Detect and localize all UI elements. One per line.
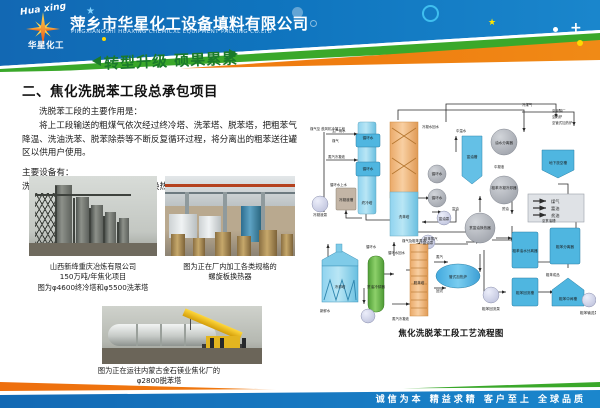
bubble-decor-4	[553, 27, 558, 32]
footer-slogan: 诚信为本 精益求精 客户至上 全球品质	[376, 392, 586, 405]
bubble-decor-5	[577, 40, 583, 46]
label-rich-oil-pump-1: 富油泵	[439, 216, 450, 221]
company-name-en: PINGXIANGSHI HUAXING CHEMICXL EQUIPMENT …	[71, 29, 272, 35]
node-reflux-pump	[483, 287, 499, 303]
caption2-line2: 螺旋板换热器	[160, 272, 300, 282]
label-blowdown-tank: 地下放空槽	[549, 160, 567, 165]
label-circ-water-4: 循环水	[432, 195, 443, 200]
label-benzene-intermediate: 粗苯中间槽	[559, 296, 577, 301]
node-debenzolizing-tower	[410, 244, 428, 316]
header-slogan-wrap: 转型升级 硕果累累	[0, 48, 600, 74]
stream-19: 蒸汽冷凝液	[392, 316, 410, 321]
body-paragraph: 将上工段输送的粗煤气依次经过终冷塔、洗苯塔、脱苯塔，把粗苯气降温、洗油洗苯、脱苯…	[22, 120, 304, 160]
caption2-line1: 图为正在厂内加工各类规格的	[160, 262, 300, 272]
stream-8: 贫油	[502, 206, 509, 211]
workshop-photo	[165, 176, 295, 256]
label-debenzolizing-tower: 脱苯塔	[414, 280, 425, 285]
slogan-right-arrow-icon	[229, 49, 238, 59]
node-benzene-transfer-pump	[582, 293, 596, 307]
stream-3: 蒸汽冷凝液	[328, 154, 346, 159]
legend-label-1: 富油	[551, 205, 559, 212]
bubble-decor-3	[422, 5, 439, 22]
node-crude-benzene-condenser	[490, 176, 518, 204]
stream-1: 生产用水	[332, 128, 346, 133]
dest-methanol: 至甲醇厂	[552, 108, 566, 113]
stream-5: 冷凝水回水	[422, 124, 440, 129]
stream-cold-gas: 冷煤气	[522, 102, 533, 107]
legend-label-0: 煤气	[551, 198, 560, 205]
node-rich-oil-tank	[462, 136, 482, 184]
page-header: + ★ Hua xing 华星化工 ★ 萍乡市华星化工设备填料有限公司 PING…	[0, 0, 600, 74]
label-final-cooler: 终冷塔	[362, 200, 373, 205]
plus-decor-icon: +	[570, 21, 582, 35]
label-oil-water-separator: 油水分离器	[495, 140, 513, 145]
caption1-line3: 图为φ4600终冷塔和φ5500洗苯塔	[25, 283, 161, 293]
label-circ-water-3: 循环水	[432, 171, 443, 176]
stream-6: 中温水	[456, 128, 467, 133]
lead-text: 洗脱苯工段的主要作用是：	[22, 106, 304, 119]
diagram-caption: 焦化洗脱苯工段工艺流程图	[306, 327, 596, 339]
company-dot-decor	[102, 37, 106, 41]
stream-4: 循环水上水	[330, 182, 348, 187]
slogan-left-arrow-icon	[92, 56, 101, 66]
label-condensate-tank: 冷凝液槽	[339, 197, 354, 202]
company-logo: Hua xing 华星化工	[14, 4, 74, 50]
label-circ-water-2: 循环水	[363, 166, 374, 171]
label-reflux-pump: 粗苯回流泵	[482, 306, 500, 311]
label-circ-water-1: 循环水	[363, 135, 374, 140]
body-text: 洗脱苯工段的主要作用是： 将上工段输送的粗煤气依次经过终冷塔、洗苯塔、脱苯塔，把…	[22, 106, 304, 160]
yellow-star-icon: ★	[488, 18, 496, 28]
caption3-line1: 图为正在运往内蒙古金石镁业焦化厂的	[64, 366, 254, 376]
label-benzene-separator: 粗苯分离器	[556, 244, 574, 249]
label-wash-tower: 洗苯塔	[399, 214, 410, 219]
label-cooling-tower: 冷却塔	[335, 284, 346, 289]
label-benzene-transfer-pump: 粗苯输送泵	[580, 310, 596, 315]
stream-16: 循环水回水	[388, 250, 406, 255]
stream-18: 循环水	[366, 244, 377, 249]
tower-site-photo	[29, 176, 157, 256]
stream-13: 粗苯成品	[546, 272, 560, 277]
page-footer: 诚信为本 精益求精 客户至上 全球品质	[0, 382, 600, 408]
stream-15: 回流	[436, 288, 443, 293]
legend-label-2: 贫油	[551, 212, 559, 219]
stream-7: 中凝液	[494, 164, 505, 169]
label-condensate-pump: 冷凝液泵	[313, 212, 328, 217]
node-cooling-tower-roof	[322, 250, 358, 266]
node-condensate-pump	[312, 196, 328, 212]
flow-diagram-svg: 煤气 富油 贫油	[306, 92, 596, 324]
node-lean-oil-cooler	[368, 256, 384, 312]
caption1-line2: 150万吨/年焦化项目	[25, 272, 161, 282]
label-benzene-reflux-tank: 粗苯回流槽	[516, 290, 534, 295]
dest-tube-furnace: 至管式加热炉	[552, 120, 573, 125]
node-crude-benzene-intermediate-tank	[552, 278, 584, 306]
caption1-line1: 山西新绛重庆冶炼有限公司	[25, 262, 161, 272]
node-lean-oil-pump	[361, 309, 375, 323]
label-benzene-oil-water-sep: 粗苯油水分离器	[512, 248, 538, 253]
stream-2: 煤气	[332, 138, 339, 143]
photo-caption-1: 山西新绛重庆冶炼有限公司 150万吨/年焦化项目 图为φ4600终冷塔和φ550…	[25, 262, 161, 293]
stream-10: 粗苯蒸汽	[424, 236, 438, 241]
brochure-page: + ★ Hua xing 华星化工 ★ 萍乡市华星化工设备填料有限公司 PING…	[0, 0, 600, 408]
label-tube-furnace: 管式加热炉	[449, 274, 467, 279]
stream-9: 富油	[452, 206, 459, 211]
stream-17: 新鲜水	[320, 308, 331, 313]
photo-row	[22, 176, 304, 262]
header-slogan: 转型升级 硕果累累	[104, 47, 239, 73]
node-benzene-wash-tower	[390, 122, 418, 198]
stream-11: 煤气及粗苯蒸汽	[402, 238, 426, 243]
label-heat-exchanger: 贫富油换热器	[469, 225, 491, 230]
photo-caption-2: 图为正在厂内加工各类规格的 螺旋板换热器	[160, 262, 300, 283]
node-wash-tower-sump	[390, 192, 418, 236]
stream-14: 至贫油槽	[542, 218, 556, 223]
bubble-decor-2	[310, 20, 317, 27]
shipping-photo	[102, 306, 262, 364]
label-lean-oil-cooler: 贫油冷却器	[367, 284, 385, 289]
stream-12: 蒸汽	[436, 254, 443, 259]
label-rich-oil-tank: 富油槽	[467, 154, 478, 159]
dest-furnace: 至热炉	[552, 114, 563, 119]
process-flow-diagram: 煤气 富油 贫油	[306, 92, 596, 324]
section-title: 二、焦化洗脱苯工段总承包项目	[22, 80, 304, 100]
label-benzene-condenser: 粗苯冷凝冷却器	[491, 185, 517, 190]
